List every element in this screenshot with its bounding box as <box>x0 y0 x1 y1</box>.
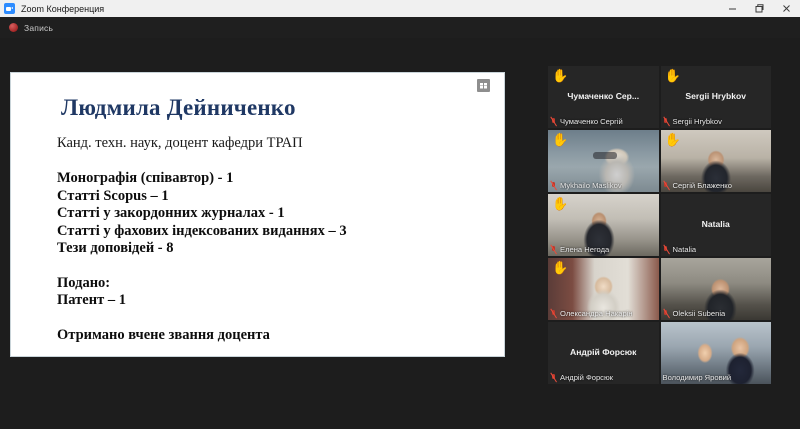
mic-muted-icon <box>550 117 557 126</box>
window-title: Zoom Конференция <box>21 4 104 14</box>
participant-name-label: Oleksii Subenia <box>663 309 726 318</box>
shared-screen-slide[interactable]: Людмила Дейниченко Канд. техн. наук, доц… <box>10 72 505 357</box>
participant-label-name: Володимир Яровий <box>663 373 732 382</box>
mic-muted-icon <box>663 117 670 126</box>
participant-name-label: Sergii Hrybkov <box>663 117 722 126</box>
participant-tile[interactable]: ✋Сергій Блаженко <box>661 130 772 192</box>
zoom-camera-icon <box>4 3 15 14</box>
spacer <box>57 310 504 327</box>
window-controls <box>719 0 800 17</box>
mic-muted-icon <box>663 309 670 318</box>
screen-share-grid-icon[interactable] <box>477 79 490 92</box>
participant-tile[interactable]: ✋Чумаченко Сер...Чумаченко Сергій <box>548 66 659 128</box>
participant-name-label: Елена Негода <box>550 245 609 254</box>
participant-label-name: Oleksii Subenia <box>673 309 726 318</box>
slide-subtitle: Канд. техн. наук, доцент кафедри ТРАП <box>57 135 504 152</box>
restore-icon[interactable] <box>746 0 773 17</box>
list-item: Монографія (співавтор) - 1 <box>57 170 504 188</box>
slide-content: Людмила Дейниченко Канд. техн. наук, доц… <box>11 73 504 344</box>
mic-muted-icon <box>550 245 557 254</box>
mic-muted-icon <box>550 373 557 382</box>
participant-tile[interactable]: Володимир Яровий <box>661 322 772 384</box>
minimize-icon[interactable] <box>719 0 746 17</box>
participant-display-name: Natalia <box>661 219 772 229</box>
slide-footer-note: Отримано вчене звання доцента <box>57 327 504 345</box>
participant-tile[interactable]: NataliaNatalia <box>661 194 772 256</box>
participant-name-label: Чумаченко Сергій <box>550 117 623 126</box>
raised-hand-icon: ✋ <box>665 69 681 82</box>
participant-filmstrip[interactable]: ✋Чумаченко Сер...Чумаченко Сергій✋Sergii… <box>548 66 771 384</box>
record-dot-icon[interactable] <box>9 23 18 32</box>
participant-name-label: Андрій Форсюк <box>550 373 613 382</box>
slide-title: Людмила Дейниченко <box>61 95 504 121</box>
participant-label-name: Олександра Накарін <box>560 309 633 318</box>
participant-name-label: Natalia <box>663 245 697 254</box>
participant-display-name: Андрій Форсюк <box>548 347 659 357</box>
mic-muted-icon <box>663 181 670 190</box>
participant-tile[interactable]: ✋Sergii HrybkovSergii Hrybkov <box>661 66 772 128</box>
mic-muted-icon <box>663 245 670 254</box>
participant-label-name: Сергій Блаженко <box>673 181 732 190</box>
participant-label-name: Mykhailo Maslikov <box>560 181 622 190</box>
window-titlebar: Zoom Конференция <box>0 0 800 17</box>
participant-name-label: Олександра Накарін <box>550 309 633 318</box>
raised-hand-icon: ✋ <box>665 133 681 146</box>
participant-display-name: Чумаченко Сер... <box>548 91 659 101</box>
participant-label-name: Sergii Hrybkov <box>673 117 722 126</box>
list-item: Статті Scopus – 1 <box>57 188 504 206</box>
raised-hand-icon: ✋ <box>552 69 568 82</box>
participant-name-label: Mykhailo Maslikov <box>550 181 622 190</box>
close-icon[interactable] <box>773 0 800 17</box>
participant-label-name: Чумаченко Сергій <box>560 117 623 126</box>
slide-submitted-item: Патент – 1 <box>57 292 504 310</box>
mic-muted-icon <box>550 181 557 190</box>
participant-label-name: Natalia <box>673 245 697 254</box>
raised-hand-icon: ✋ <box>552 197 568 210</box>
raised-hand-icon: ✋ <box>552 133 568 146</box>
participant-tile[interactable]: Андрій ФорсюкАндрій Форсюк <box>548 322 659 384</box>
spacer <box>57 258 504 275</box>
participant-tile[interactable]: ✋Mykhailo Maslikov <box>548 130 659 192</box>
participant-name-label: Володимир Яровий <box>663 373 732 382</box>
raised-hand-icon: ✋ <box>552 261 568 274</box>
list-item: Тези доповідей - 8 <box>57 240 504 258</box>
list-item: Статті у закордонних журналах - 1 <box>57 205 504 223</box>
zoom-meeting-window: Zoom Конференция Запись <box>0 0 800 429</box>
recording-bar: Запись <box>0 17 800 38</box>
participant-tile[interactable]: Oleksii Subenia <box>661 258 772 320</box>
participant-tile[interactable]: ✋Елена Негода <box>548 194 659 256</box>
recording-label: Запись <box>24 23 53 33</box>
participant-tile[interactable]: ✋Олександра Накарін <box>548 258 659 320</box>
participant-label-name: Елена Негода <box>560 245 609 254</box>
slide-submitted-heading: Подано: <box>57 275 504 293</box>
slide-achievements-list: Монографія (співавтор) - 1 Статті Scopus… <box>57 170 504 258</box>
participant-name-label: Сергій Блаженко <box>663 181 732 190</box>
list-item: Статті у фахових індексованих виданнях –… <box>57 223 504 241</box>
participant-display-name: Sergii Hrybkov <box>661 91 772 101</box>
mic-muted-icon <box>550 309 557 318</box>
participant-label-name: Андрій Форсюк <box>560 373 613 382</box>
